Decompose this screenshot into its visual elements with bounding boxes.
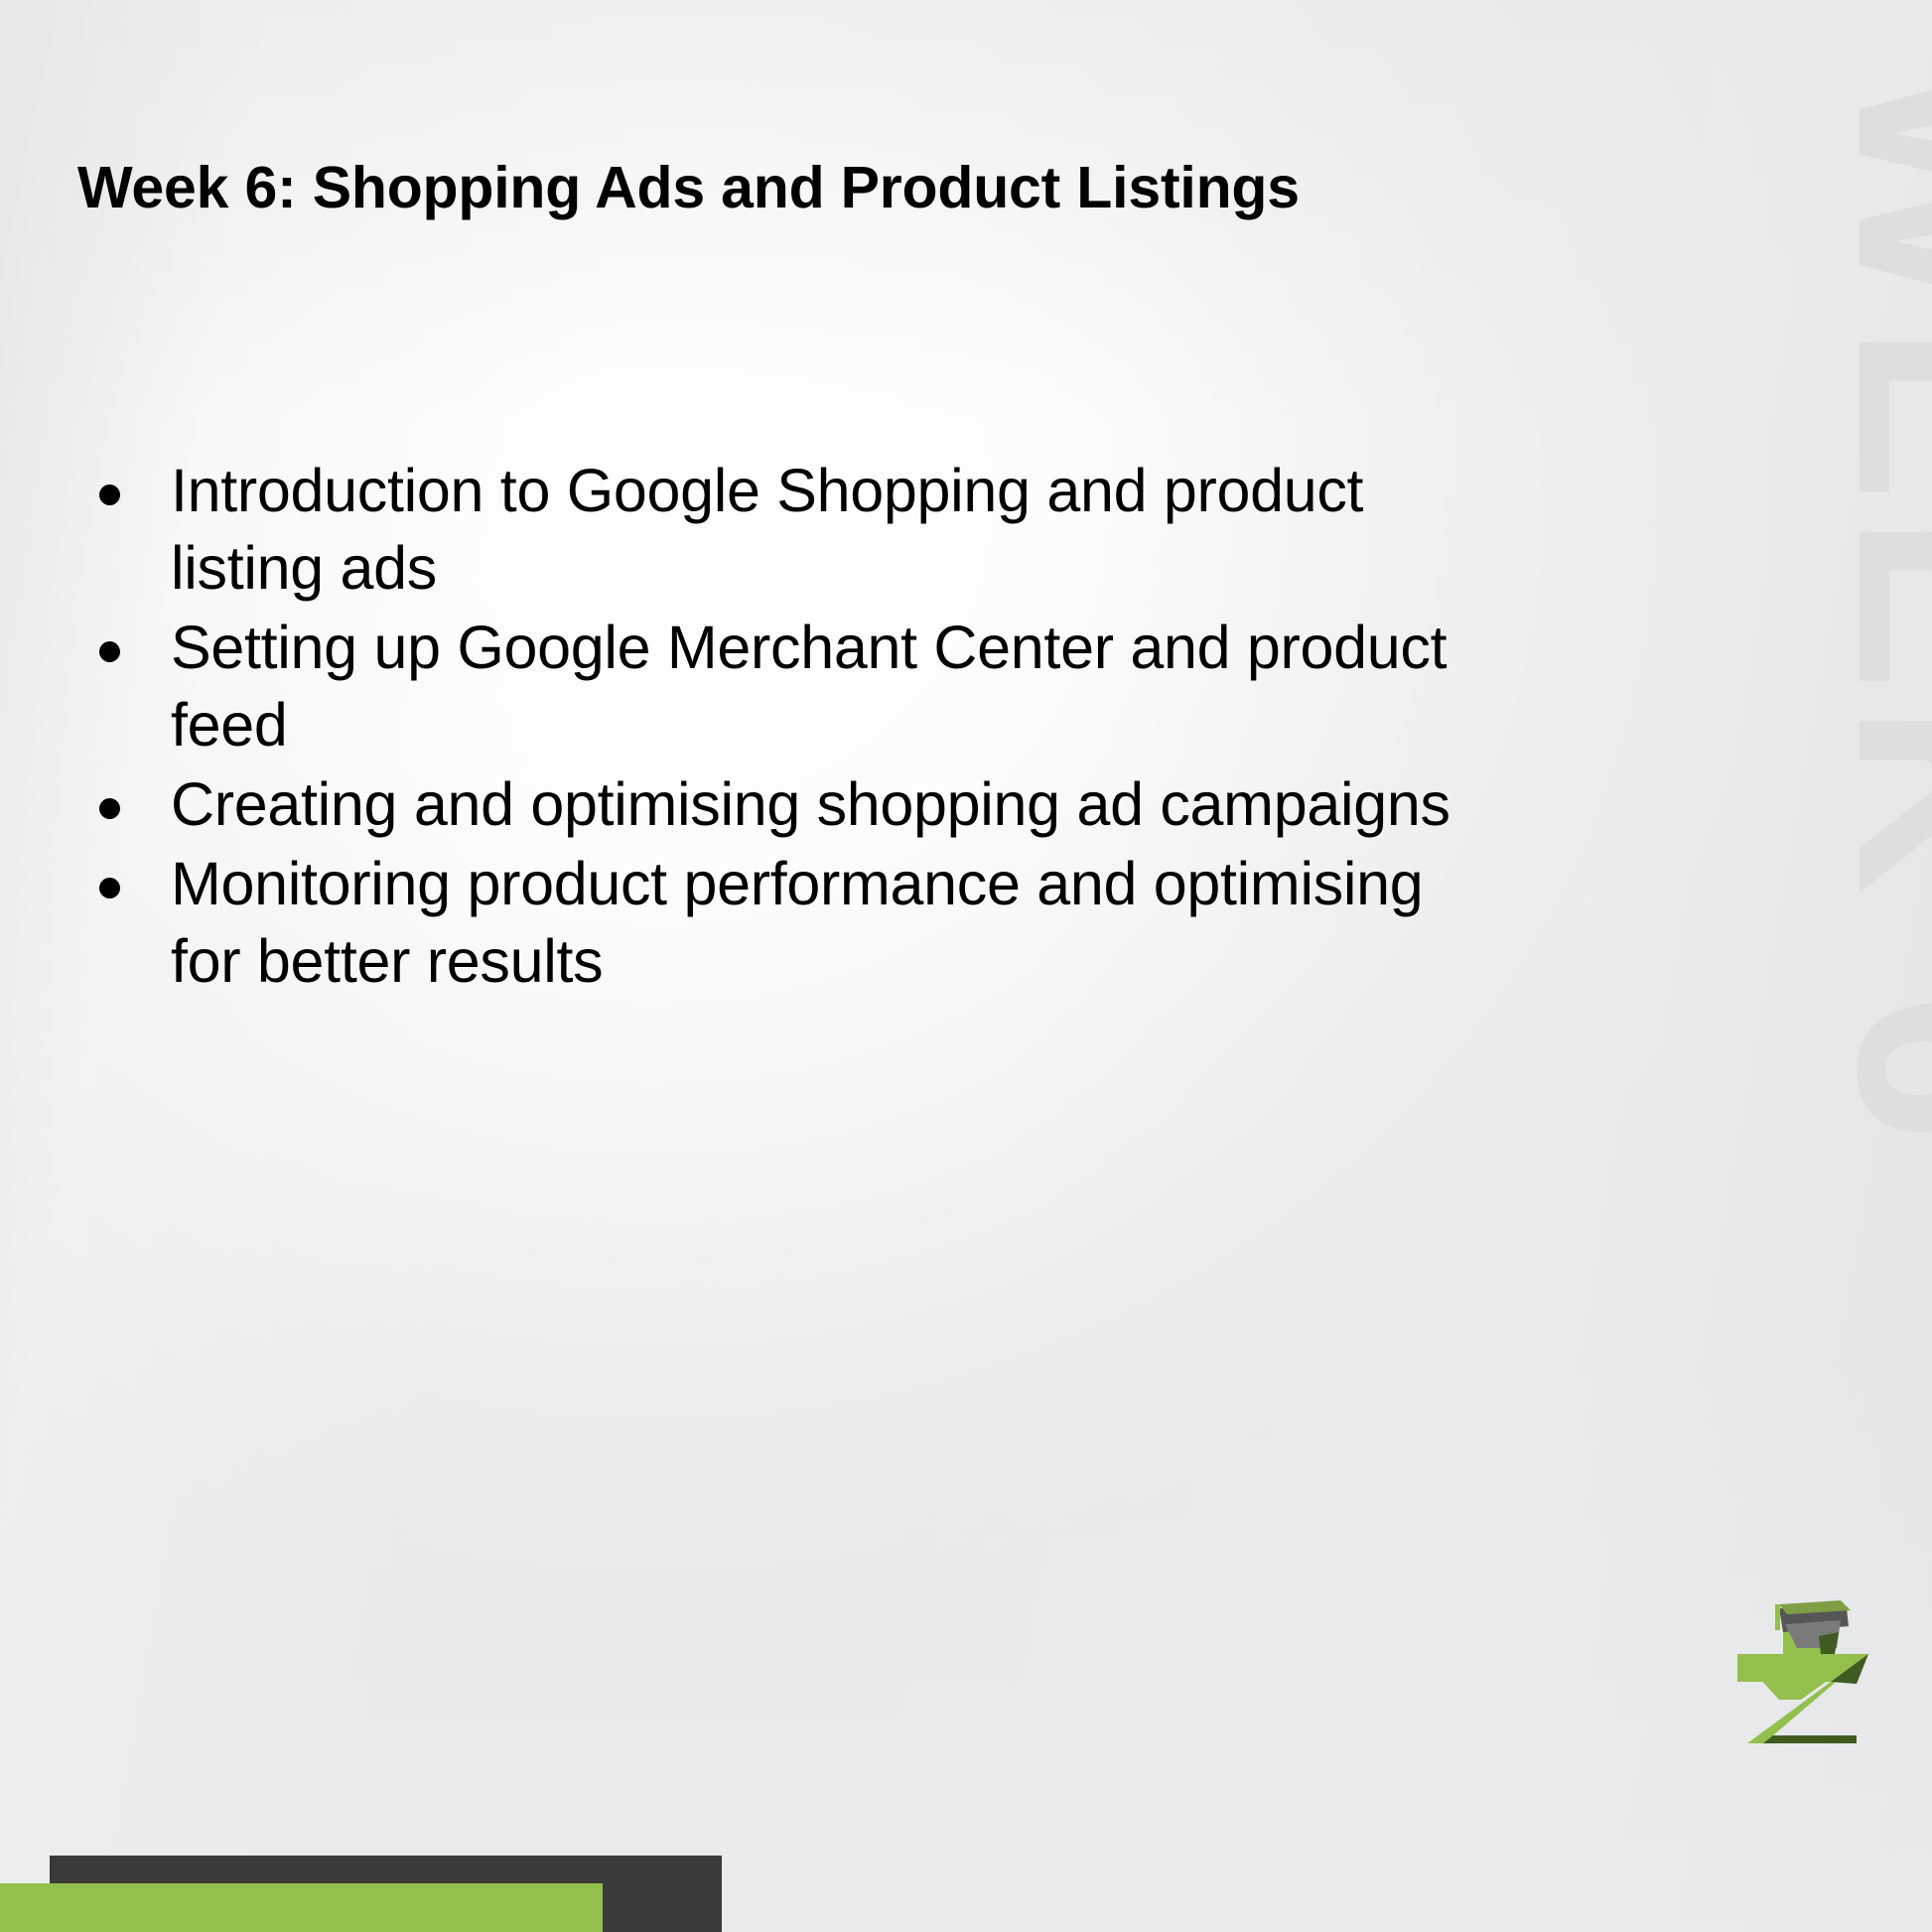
bullet-dot-icon: [85, 845, 171, 922]
logo-star-shadow-lower: [1763, 1735, 1857, 1743]
list-item-label: Introduction to Google Shopping and prod…: [171, 452, 1475, 607]
list-item: Creating and optimising shopping ad camp…: [85, 765, 1475, 843]
list-item-label: Setting up Google Merchant Center and pr…: [171, 609, 1475, 763]
list-item-label: Monitoring product performance and optim…: [171, 845, 1475, 1000]
graduation-star-logo: [1702, 1596, 1932, 1791]
bullet-dot-icon: [85, 609, 171, 686]
page-title: Week 6: Shopping Ads and Product Listing…: [77, 151, 1547, 224]
bullet-dot-icon: [85, 765, 171, 843]
slide-canvas: WEEK 6 Week 6: Shopping Ads and Product …: [0, 0, 1932, 1932]
graduation-cap-tassel: [1775, 1604, 1780, 1630]
week-watermark: WEEK 6: [1803, 62, 1932, 955]
bullet-list: Introduction to Google Shopping and prod…: [85, 452, 1475, 1002]
list-item-label: Creating and optimising shopping ad camp…: [171, 765, 1475, 843]
list-item: Monitoring product performance and optim…: [85, 845, 1475, 1000]
footer-bar-green: [0, 1883, 603, 1932]
list-item: Introduction to Google Shopping and prod…: [85, 452, 1475, 607]
logo-star-body: [1737, 1654, 1868, 1743]
list-item: Setting up Google Merchant Center and pr…: [85, 609, 1475, 763]
bullet-dot-icon: [85, 452, 171, 529]
